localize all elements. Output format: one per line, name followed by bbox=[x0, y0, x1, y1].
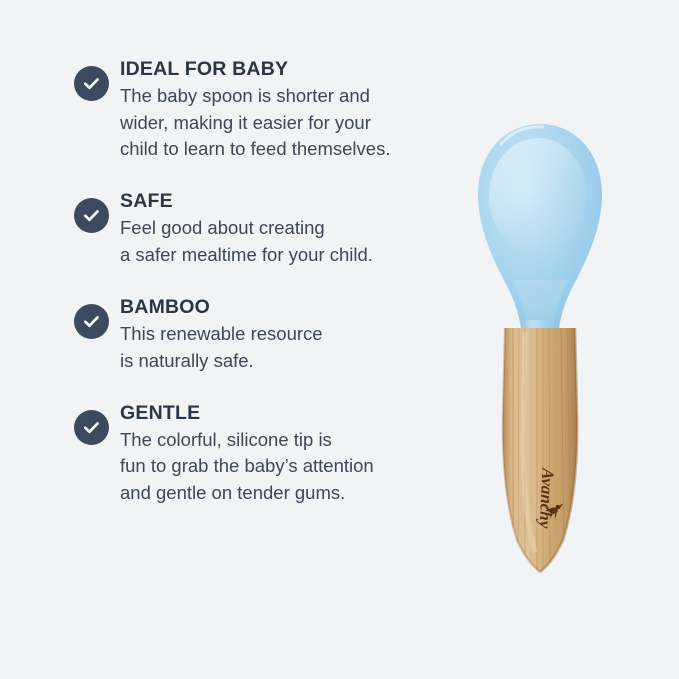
feature-list: IDEAL FOR BABY The baby spoon is shorter… bbox=[74, 56, 434, 506]
feature-description-line: The colorful, silicone tip is bbox=[120, 427, 434, 453]
silicone-spoon-bowl bbox=[478, 124, 602, 328]
feature-description-line: fun to grab the baby’s attention bbox=[120, 453, 434, 479]
product-image-bamboo-baby-spoon: Avanchy bbox=[455, 110, 625, 580]
bamboo-handle bbox=[503, 328, 577, 572]
feature-title: BAMBOO bbox=[120, 294, 434, 320]
feature-description-line: The baby spoon is shorter and bbox=[120, 83, 434, 109]
check-circle-icon bbox=[74, 66, 109, 101]
feature-title: IDEAL FOR BABY bbox=[120, 56, 434, 82]
feature-item-ideal-for-baby: IDEAL FOR BABY The baby spoon is shorter… bbox=[74, 56, 434, 162]
feature-description-line: is naturally safe. bbox=[120, 348, 434, 374]
check-circle-icon bbox=[74, 410, 109, 445]
check-circle-icon bbox=[74, 198, 109, 233]
feature-description-line: This renewable resource bbox=[120, 321, 434, 347]
brand-logo-text: Avanchy bbox=[535, 467, 557, 529]
feature-title: GENTLE bbox=[120, 400, 434, 426]
feature-item-bamboo: BAMBOO This renewable resource is natura… bbox=[74, 294, 434, 374]
feature-item-safe: SAFE Feel good about creating a safer me… bbox=[74, 188, 434, 268]
feature-description: Feel good about creating a safer mealtim… bbox=[120, 215, 434, 268]
feature-description-line: and gentle on tender gums. bbox=[120, 480, 434, 506]
feature-description: This renewable resource is naturally saf… bbox=[120, 321, 434, 374]
feature-description: The baby spoon is shorter and wider, mak… bbox=[120, 83, 434, 162]
check-circle-icon bbox=[74, 304, 109, 339]
feature-title: SAFE bbox=[120, 188, 434, 214]
feature-description-line: Feel good about creating bbox=[120, 215, 434, 241]
feature-description-line: child to learn to feed themselves. bbox=[120, 136, 434, 162]
feature-item-gentle: GENTLE The colorful, silicone tip is fun… bbox=[74, 400, 434, 506]
product-feature-infographic: IDEAL FOR BABY The baby spoon is shorter… bbox=[0, 0, 679, 679]
feature-description-line: a safer mealtime for your child. bbox=[120, 242, 434, 268]
feature-description: The colorful, silicone tip is fun to gra… bbox=[120, 427, 434, 506]
feature-description-line: wider, making it easier for your bbox=[120, 110, 434, 136]
